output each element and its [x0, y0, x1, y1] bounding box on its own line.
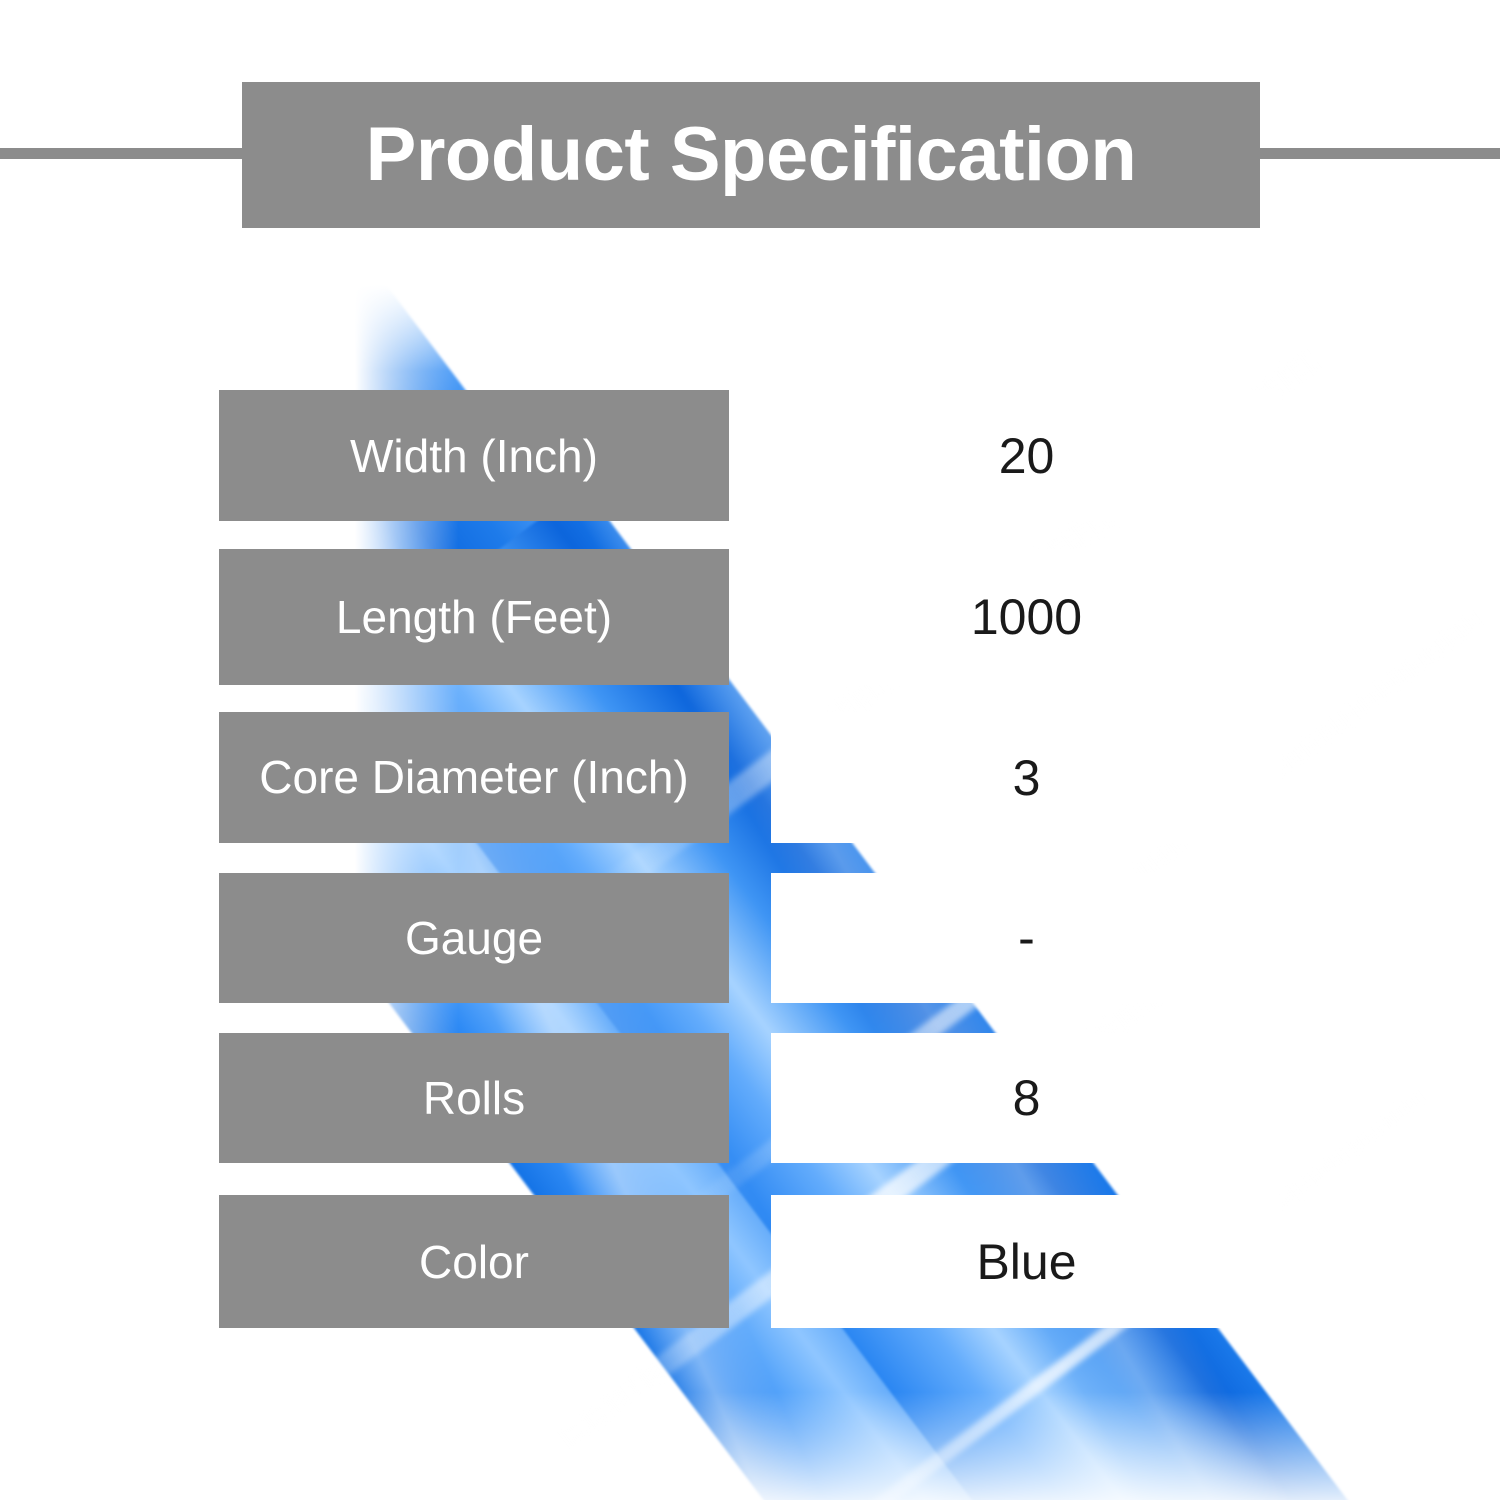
spec-value-gauge: - [771, 873, 1282, 1003]
spec-label-length: Length (Feet) [219, 549, 729, 685]
product-specification-page: Product Specification Width (Inch) 20 Le… [0, 0, 1500, 1500]
specification-table: Width (Inch) 20 Length (Feet) 1000 Core … [0, 0, 1500, 1500]
spec-label-gauge: Gauge [219, 873, 729, 1003]
spec-label-rolls: Rolls [219, 1033, 729, 1163]
spec-label-color: Color [219, 1195, 729, 1328]
spec-value-rolls: 8 [771, 1033, 1282, 1163]
spec-value-length: 1000 [771, 549, 1282, 685]
spec-value-width: 20 [771, 390, 1282, 521]
spec-value-core-diameter: 3 [771, 712, 1282, 843]
spec-label-core-diameter: Core Diameter (Inch) [219, 712, 729, 843]
spec-label-width: Width (Inch) [219, 390, 729, 521]
spec-value-color: Blue [771, 1195, 1282, 1328]
